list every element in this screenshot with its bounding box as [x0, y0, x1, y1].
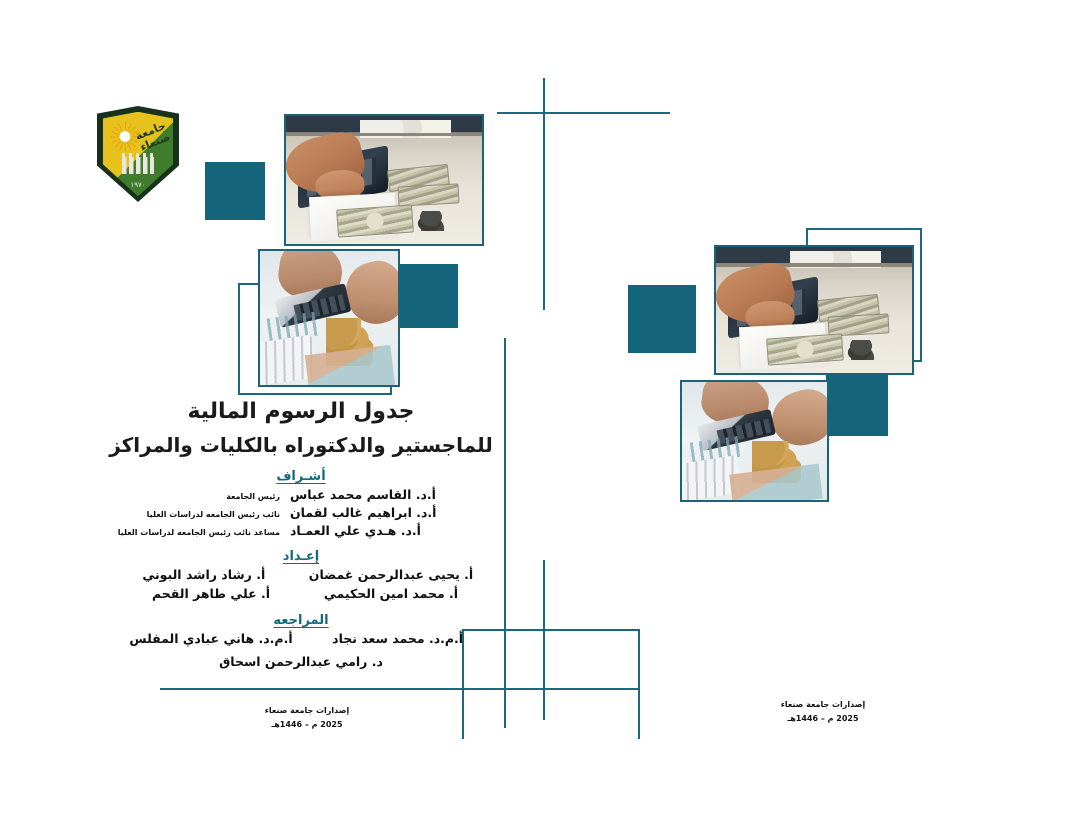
- supervision-heading: أشـراف: [108, 469, 494, 484]
- footer-left-line2: 2025 م – 1446هـ: [232, 718, 382, 732]
- preparation-row: أ. محمد امين الحكيمي أ. علي طاهر القحم: [108, 585, 494, 604]
- footer-right-line2: 2025 م – 1446هـ: [748, 712, 898, 726]
- person-name: د. رامي عبدالرحمن اسحاق: [219, 654, 383, 669]
- preparation-row: أ. يحيى عبدالرحمن غمضان أ. رشاد راشد الب…: [108, 566, 494, 585]
- supervision-person-row: أ.د. هـدي علي العمـاد مساعد نائب رئيس ال…: [108, 522, 494, 540]
- person-name: أ.د. ابراهيم غالب لقمان: [290, 504, 458, 522]
- page-title: جدول الرسوم المالية: [108, 395, 494, 428]
- person-name: أ.د. القاسم محمد عباس: [290, 486, 458, 504]
- person-role: مساعد نائب رئيس الجامعه لدراسات العليا: [112, 527, 280, 539]
- document-cover-page: جامعة صنعاء ١٩٧٠: [0, 0, 1080, 826]
- decor-line-horizontal-top: [497, 112, 670, 114]
- footer-left-line1: إصدارات جامعة صنعاء: [232, 704, 382, 718]
- decor-line-horizontal-bottom: [160, 688, 640, 690]
- person-name: أ. محمد امين الحكيمي: [316, 585, 466, 604]
- person-name: أ.م.د. محمد سعد نجاد: [323, 630, 473, 649]
- review-row: أ.م.د. محمد سعد نجاد أ.م.د. هاني عبادي ا…: [108, 630, 494, 649]
- photo-scene: [286, 116, 482, 244]
- decor-square-upper-left: [205, 162, 265, 220]
- cover-text-block: جدول الرسوم المالية للماجستير والدكتوراه…: [108, 395, 494, 673]
- footer-right-line1: إصدارات جامعة صنعاء: [748, 698, 898, 712]
- review-heading: المراجعه: [108, 613, 494, 628]
- page-subtitle: للماجستير والدكتوراه بالكليات والمراكز: [108, 430, 494, 460]
- sanaa-university-logo: جامعة صنعاء ١٩٧٠: [97, 106, 179, 202]
- supervision-person-row: أ.د. القاسم محمد عباس رئيس الجامعة: [108, 486, 494, 504]
- decor-square-center-right: [628, 285, 696, 353]
- logo-shield-shape: جامعة صنعاء ١٩٧٠: [97, 106, 179, 202]
- logo-shield-inner: جامعة صنعاء ١٩٧٠: [103, 112, 174, 197]
- photo-coins-calculator-bottom-right: [680, 380, 829, 502]
- decor-square-center-left: [394, 264, 458, 328]
- person-name: أ. علي طاهر القحم: [136, 585, 286, 604]
- photo-calculator-cash-top-left: [284, 114, 484, 246]
- review-single-row: د. رامي عبدالرحمن اسحاق: [108, 649, 494, 673]
- photo-calculator-cash-right: [714, 245, 914, 375]
- person-name: أ.م.د. هاني عبادي المفلس: [129, 630, 292, 649]
- decor-square-right: [826, 374, 888, 436]
- photo-scene: [716, 247, 912, 373]
- supervision-person-row: أ.د. ابراهيم غالب لقمان نائب رئيس الجامع…: [108, 504, 494, 522]
- decor-line-vertical-box-right: [638, 629, 640, 739]
- decor-line-vertical-mid-center: [504, 338, 506, 728]
- decor-line-horizontal-bottom-short: [440, 688, 565, 690]
- people-figures-icon: [122, 157, 154, 174]
- logo-year-text: ١٩٧٠: [103, 181, 174, 189]
- person-name: أ.د. هـدي علي العمـاد: [290, 522, 458, 540]
- logo-arabic-text: جامعة صنعاء: [134, 120, 172, 153]
- footer-right: إصدارات جامعة صنعاء 2025 م – 1446هـ: [748, 698, 898, 725]
- person-role: نائب رئيس الجامعه لدراسات العليا: [112, 509, 280, 521]
- photo-scene: [260, 251, 398, 385]
- photo-coins-calculator-left: [258, 249, 400, 387]
- person-role: رئيس الجامعة: [112, 491, 280, 503]
- person-name: أ. يحيى عبدالرحمن غمضان: [309, 566, 473, 585]
- photo-scene: [682, 382, 827, 500]
- decor-line-vertical-lower-center: [543, 560, 545, 720]
- person-name: أ. رشاد راشد البوني: [129, 566, 279, 585]
- preparation-heading: إعـداد: [108, 549, 494, 564]
- footer-left: إصدارات جامعة صنعاء 2025 م – 1446هـ: [232, 704, 382, 731]
